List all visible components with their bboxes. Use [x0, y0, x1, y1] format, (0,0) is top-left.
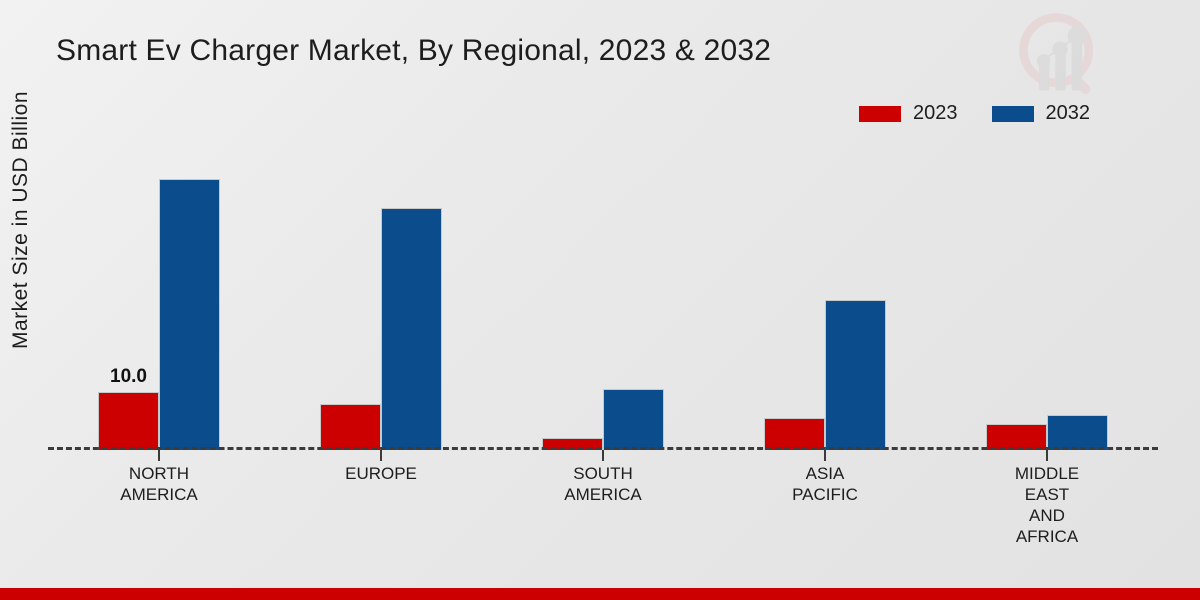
- bar-group: MIDDLE EAST AND AFRICA: [936, 150, 1158, 450]
- bar-wrapper: 10.0: [98, 150, 159, 450]
- bar-group: SOUTH AMERICA: [492, 150, 714, 450]
- bar-group: 10.0NORTH AMERICA: [48, 150, 270, 450]
- page-title: Smart Ev Charger Market, By Regional, 20…: [56, 34, 771, 68]
- watermark-logo-icon: [1012, 6, 1108, 102]
- bar-pair: [320, 150, 442, 450]
- x-axis-tick: [158, 450, 160, 461]
- legend-item-2023[interactable]: 2023: [859, 102, 958, 125]
- bar-wrapper: [1047, 150, 1108, 450]
- x-axis-category-label: SOUTH AMERICA: [564, 463, 641, 505]
- x-axis-category-label: NORTH AMERICA: [120, 463, 197, 505]
- bar-wrapper: [381, 150, 442, 450]
- x-axis-category-label: EUROPE: [345, 463, 417, 484]
- bar-wrapper: [542, 150, 603, 450]
- bar-group: ASIA PACIFIC: [714, 150, 936, 450]
- bar-wrapper: [986, 150, 1047, 450]
- legend-swatch-2032: [992, 106, 1034, 122]
- bar-wrapper: [159, 150, 220, 450]
- bar-2032[interactable]: [381, 208, 442, 450]
- bar-2032[interactable]: [159, 179, 220, 450]
- chart-legend: 2023 2032: [859, 102, 1090, 125]
- bar-2032[interactable]: [1047, 415, 1108, 450]
- bar-2032[interactable]: [825, 300, 886, 450]
- bar-pair: 10.0: [98, 150, 220, 450]
- bar-wrapper: [320, 150, 381, 450]
- chart-page: Smart Ev Charger Market, By Regional, 20…: [0, 0, 1200, 600]
- x-axis-baseline: [48, 447, 1158, 450]
- bar-group: EUROPE: [270, 150, 492, 450]
- x-axis-tick: [824, 450, 826, 461]
- x-axis-tick: [380, 450, 382, 461]
- bar-wrapper: [603, 150, 664, 450]
- legend-label-2023: 2023: [913, 102, 958, 125]
- legend-swatch-2023: [859, 106, 901, 122]
- bar-2023[interactable]: [764, 418, 825, 450]
- bar-wrapper: [825, 150, 886, 450]
- x-axis-category-label: ASIA PACIFIC: [792, 463, 858, 505]
- legend-item-2032[interactable]: 2032: [992, 102, 1091, 125]
- bar-2032[interactable]: [603, 389, 664, 450]
- footer-accent-band: [0, 588, 1200, 600]
- bar-wrapper: [764, 150, 825, 450]
- x-axis-category-label: MIDDLE EAST AND AFRICA: [1015, 463, 1079, 547]
- bar-pair: [764, 150, 886, 450]
- legend-label-2032: 2032: [1046, 102, 1091, 125]
- x-axis-tick: [1046, 450, 1048, 461]
- bar-2023[interactable]: [320, 404, 381, 450]
- bar-value-label: 10.0: [98, 366, 159, 388]
- bar-2023[interactable]: [98, 392, 159, 450]
- bar-groups: 10.0NORTH AMERICAEUROPESOUTH AMERICAASIA…: [48, 150, 1158, 450]
- plot-area: 10.0NORTH AMERICAEUROPESOUTH AMERICAASIA…: [48, 150, 1158, 450]
- x-axis-tick: [602, 450, 604, 461]
- bar-pair: [986, 150, 1108, 450]
- y-axis-title: Market Size in USD Billion: [4, 0, 38, 520]
- bar-pair: [542, 150, 664, 450]
